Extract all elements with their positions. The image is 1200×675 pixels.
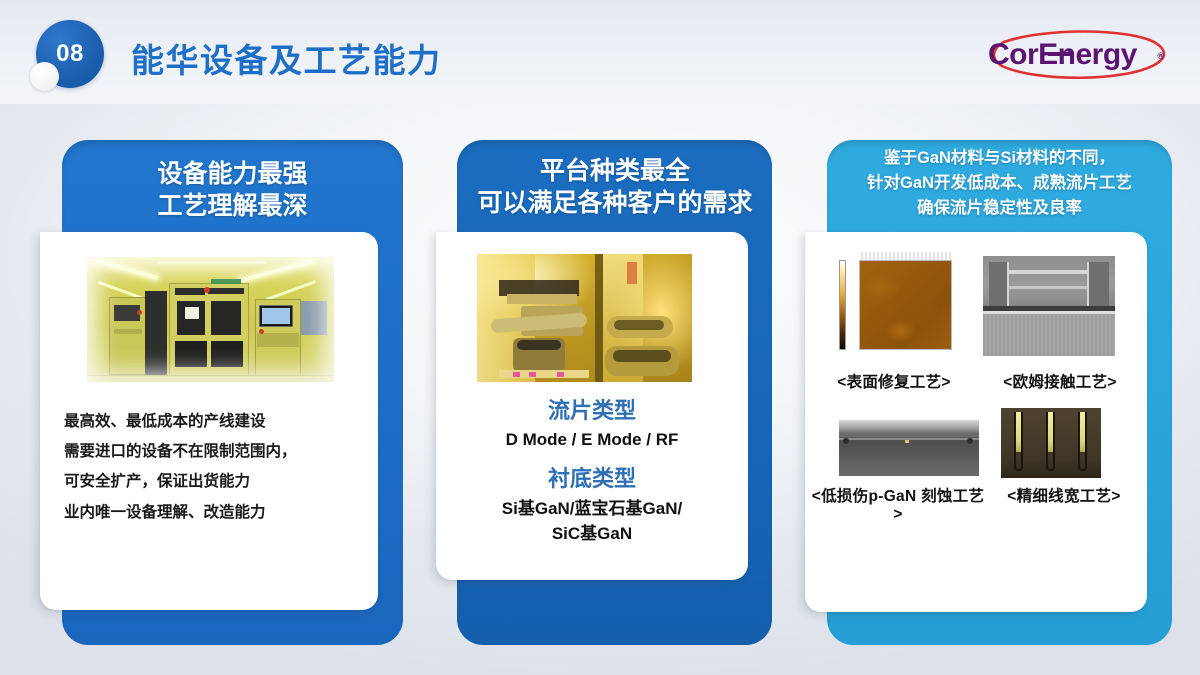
card2-headline-line-1: 平台种类最全: [450, 155, 780, 187]
cleanroom-equipment-photo: [87, 257, 334, 382]
card3-headline-line-1: 鉴于GaN材料与Si材料的不同，: [827, 146, 1172, 171]
card1-content-surface: 最高效、最低成本的产线建设 需要进口的设备不在限制范围内， 可安全扩产，保证出货…: [40, 232, 378, 610]
stripe-1: [1016, 412, 1021, 452]
sem-low-damage-pgan-image: [839, 420, 979, 476]
stripe-3: [1080, 412, 1085, 452]
card2-section-2-value-2: SiC基GaN: [436, 522, 748, 547]
logo-graphic: CorEnergy: [976, 26, 1176, 84]
cleanroom-photo-canvas: [87, 257, 334, 382]
card3-headline-line-2: 针对GaN开发低成本、成熟流片工艺: [827, 171, 1172, 196]
card2-headline-line-2: 可以满足各种客户的需求: [450, 187, 780, 219]
card1-body: 最高效、最低成本的产线建设 需要进口的设备不在限制范围内， 可安全扩产，保证出货…: [64, 407, 364, 528]
gold-process-chamber-photo: [477, 254, 692, 382]
sem-low-damage-pgan-caption: <低损伤p-GaN 刻蚀工艺>: [809, 488, 987, 525]
corenergy-logo: CorEnergy ®: [976, 26, 1176, 84]
afm-surface-repair-caption: <表面修复工艺>: [813, 374, 975, 392]
card1-headline-line-2: 工艺理解最深: [62, 190, 403, 222]
slide-canvas: 08 能华设备及工艺能力 CorEnergy ® 设备能力最强 工艺理解最深: [0, 0, 1200, 675]
registered-trademark-icon: ®: [1157, 51, 1164, 61]
slide-header: 08 能华设备及工艺能力 CorEnergy ®: [0, 0, 1200, 104]
badge-accent-dot-icon: [30, 62, 59, 91]
card1-headline-line-1: 设备能力最强: [62, 158, 403, 190]
afm-title-strip: [861, 252, 952, 260]
afm-surface-map: [859, 260, 952, 350]
sem-ohmic-contact-caption: <欧姆接触工艺>: [977, 374, 1143, 392]
card2-section-2-value-1: Si基GaN/蓝宝石基GaN/: [436, 497, 748, 522]
card1-body-line-1: 最高效、最低成本的产线建设: [64, 407, 364, 437]
card1-body-line-2: 需要进口的设备不在限制范围内，: [64, 437, 364, 467]
card2-section-1-value-1: D Mode / E Mode / RF: [436, 430, 748, 450]
card1-body-line-3: 可安全扩产，保证出货能力: [64, 467, 364, 497]
card2-sections: 流片类型 D Mode / E Mode / RF 衬底类型 Si基GaN/蓝宝…: [436, 396, 748, 547]
card2-headline: 平台种类最全 可以满足各种客户的需求: [450, 155, 780, 219]
card3-headline: 鉴于GaN材料与Si材料的不同， 针对GaN开发低成本、成熟流片工艺 确保流片稳…: [827, 146, 1172, 221]
card2-section-1-heading: 流片类型: [436, 396, 748, 426]
sem-fine-linewidth-image: [1001, 408, 1101, 478]
afm-surface-repair-image: [833, 252, 958, 364]
card2-section-2-heading: 衬底类型: [436, 464, 748, 494]
card3-content-surface: <表面修复工艺> <欧姆接触工艺> <低损伤p-GaN 刻蚀工艺> <精细线: [805, 232, 1147, 612]
card2-content-surface: 流片类型 D Mode / E Mode / RF 衬底类型 Si基GaN/蓝宝…: [436, 232, 748, 580]
sem-ohmic-contact-image: [983, 256, 1115, 356]
card1-body-line-4: 业内唯一设备理解、改造能力: [64, 498, 364, 528]
sem-fine-linewidth-caption: <精细线宽工艺>: [985, 488, 1143, 506]
page-title: 能华设备及工艺能力: [131, 34, 442, 82]
card3-headline-line-3: 确保流片稳定性及良率: [827, 196, 1172, 221]
gold-photo-canvas: [477, 254, 692, 382]
cleanroom-vignette: [87, 257, 334, 382]
stripe-2: [1048, 412, 1053, 452]
afm-colorbar: [839, 260, 846, 350]
card1-headline: 设备能力最强 工艺理解最深: [62, 158, 403, 222]
